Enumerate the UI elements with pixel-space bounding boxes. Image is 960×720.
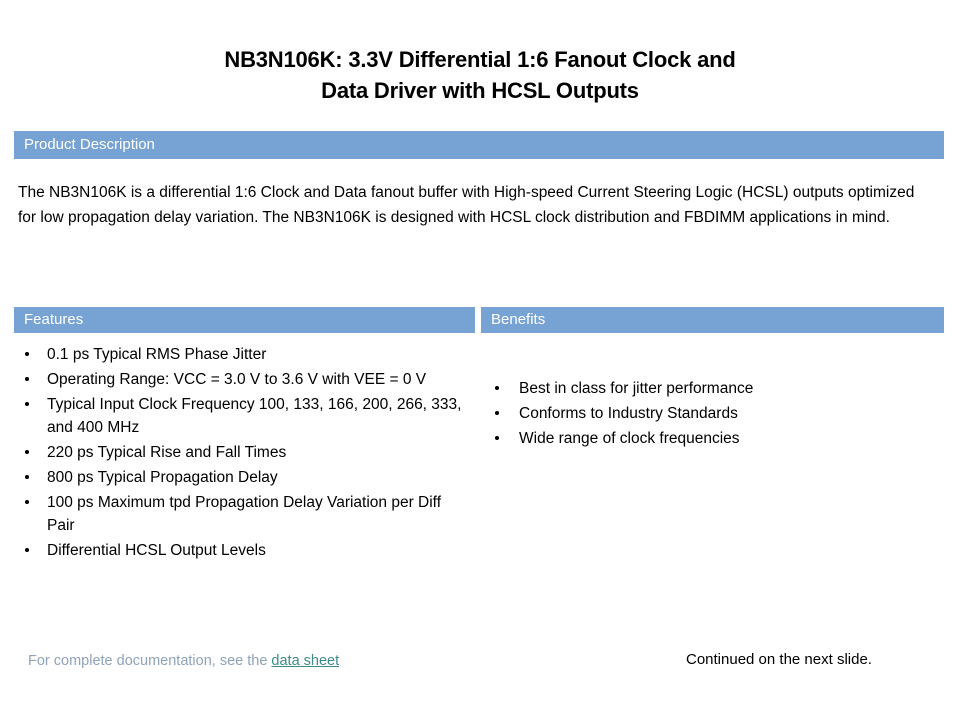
bullet-icon: [25, 377, 29, 381]
list-item-label: 100 ps Maximum tpd Propagation Delay Var…: [47, 494, 441, 534]
features-list: 0.1 ps Typical RMS Phase Jitter Operatin…: [17, 343, 469, 564]
list-item: 220 ps Typical Rise and Fall Times: [17, 441, 469, 464]
list-item-label: Typical Input Clock Frequency 100, 133, …: [47, 396, 461, 436]
list-item-label: Operating Range: VCC = 3.0 V to 3.6 V wi…: [47, 371, 426, 388]
bullet-icon: [495, 386, 499, 390]
product-description-body: The NB3N106K is a differential 1:6 Clock…: [18, 180, 930, 230]
section-header-benefits: Benefits: [481, 307, 944, 333]
list-item: Best in class for jitter performance: [487, 377, 937, 400]
list-item-label: Differential HCSL Output Levels: [47, 542, 266, 559]
bullet-icon: [25, 450, 29, 454]
footer-documentation-prefix: For complete documentation, see the: [28, 653, 271, 669]
bullet-icon: [495, 411, 499, 415]
list-item: Conforms to Industry Standards: [487, 402, 937, 425]
benefits-list: Best in class for jitter performance Con…: [487, 377, 937, 452]
bullet-icon: [25, 500, 29, 504]
data-sheet-link[interactable]: data sheet: [271, 653, 339, 669]
bullet-icon: [25, 352, 29, 356]
section-header-product-description: Product Description: [14, 131, 944, 159]
footer-continued-note: Continued on the next slide.: [686, 650, 872, 670]
section-header-features: Features: [14, 307, 475, 333]
page-title-line-2: Data Driver with HCSL Outputs: [60, 75, 900, 106]
bullet-icon: [495, 436, 499, 440]
list-item: Differential HCSL Output Levels: [17, 539, 469, 562]
list-item: Operating Range: VCC = 3.0 V to 3.6 V wi…: [17, 368, 469, 391]
footer-documentation-note: For complete documentation, see the data…: [28, 652, 339, 671]
list-item: Typical Input Clock Frequency 100, 133, …: [17, 393, 469, 439]
list-item-label: 0.1 ps Typical RMS Phase Jitter: [47, 346, 266, 363]
list-item: Wide range of clock frequencies: [487, 427, 937, 450]
list-item-label: Wide range of clock frequencies: [519, 430, 740, 447]
list-item: 800 ps Typical Propagation Delay: [17, 466, 469, 489]
page-title: NB3N106K: 3.3V Differential 1:6 Fanout C…: [60, 44, 900, 106]
list-item: 100 ps Maximum tpd Propagation Delay Var…: [17, 491, 469, 537]
list-item-label: 220 ps Typical Rise and Fall Times: [47, 444, 286, 461]
list-item-label: Conforms to Industry Standards: [519, 405, 738, 422]
slide-canvas: NB3N106K: 3.3V Differential 1:6 Fanout C…: [0, 0, 960, 720]
list-item-label: Best in class for jitter performance: [519, 380, 753, 397]
list-item: 0.1 ps Typical RMS Phase Jitter: [17, 343, 469, 366]
bullet-icon: [25, 402, 29, 406]
bullet-icon: [25, 475, 29, 479]
list-item-label: 800 ps Typical Propagation Delay: [47, 469, 278, 486]
bullet-icon: [25, 548, 29, 552]
page-title-line-1: NB3N106K: 3.3V Differential 1:6 Fanout C…: [60, 44, 900, 75]
